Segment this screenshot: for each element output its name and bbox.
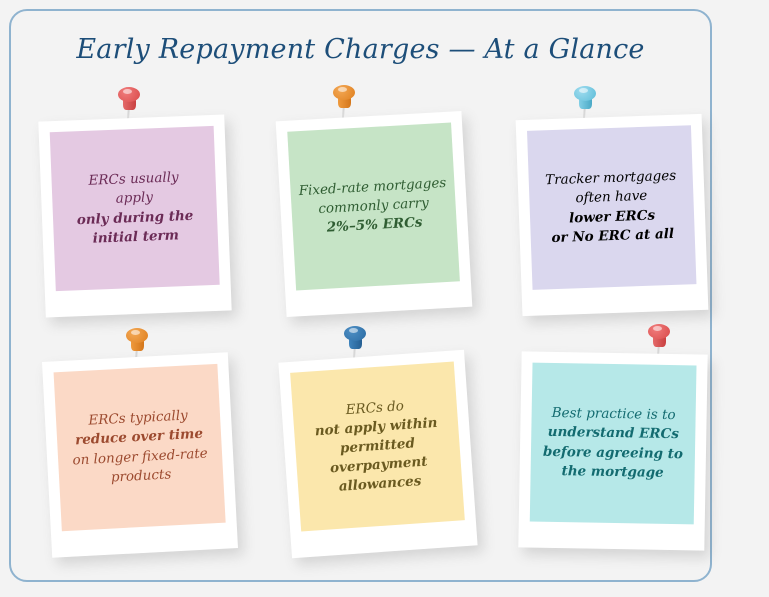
note-card-surface: ERCs typicallyreduce over timeon longer … bbox=[54, 364, 226, 531]
pin-head bbox=[126, 328, 148, 343]
note-card-line: products bbox=[110, 465, 171, 487]
card-reduce-over-time: ERCs typicallyreduce over timeon longer … bbox=[42, 352, 238, 557]
pin-head bbox=[648, 324, 670, 339]
note-card-surface: Tracker mortgagesoften havelower ERCsor … bbox=[527, 125, 696, 290]
pin-highlight bbox=[123, 89, 132, 94]
pin-highlight bbox=[653, 326, 662, 331]
pin-head bbox=[118, 87, 140, 102]
pin-head bbox=[333, 85, 355, 100]
card-fixed-rate-2-5: Fixed-rate mortgagescommonly carry2%–5% … bbox=[276, 111, 473, 317]
pin-shaft bbox=[338, 94, 351, 108]
note-card-line: or No ERC at all bbox=[551, 225, 674, 248]
card-best-practice: Best practice is tounderstand ERCsbefore… bbox=[518, 351, 707, 550]
note-card-line: apply bbox=[115, 189, 153, 210]
note-card-surface: Best practice is tounderstand ERCsbefore… bbox=[530, 363, 697, 525]
pin-shaft bbox=[131, 337, 144, 351]
card-overpayment-allowances: ERCs donot apply withinpermittedoverpaym… bbox=[278, 350, 477, 558]
page-title: Early Repayment Charges — At a Glance bbox=[0, 34, 721, 65]
note-card-surface: ERCs donot apply withinpermittedoverpaym… bbox=[290, 361, 465, 531]
pin-shaft bbox=[123, 96, 136, 110]
note-card-line: 2%–5% ERCs bbox=[326, 213, 423, 237]
note-card-line: initial term bbox=[92, 226, 179, 248]
pin-shaft bbox=[349, 335, 362, 349]
note-card-line: understand ERCs bbox=[548, 423, 679, 444]
infographic-poster: Early Repayment Charges — At a Glance ER… bbox=[0, 0, 769, 597]
pin-head bbox=[344, 326, 366, 341]
note-card-line: ERCs usually bbox=[88, 168, 179, 191]
note-card-surface: ERCs usuallyapplyonly during theinitial … bbox=[50, 126, 220, 291]
note-card-surface: Fixed-rate mortgagescommonly carry2%–5% … bbox=[287, 123, 460, 291]
card-erc-initial-term: ERCs usuallyapplyonly during theinitial … bbox=[38, 115, 231, 318]
pin-shaft bbox=[653, 333, 666, 347]
pin-shaft bbox=[579, 95, 592, 109]
pin-highlight bbox=[579, 88, 588, 93]
pin-highlight bbox=[131, 330, 140, 335]
note-card-line: the mortgage bbox=[561, 462, 664, 483]
pin-highlight bbox=[349, 328, 358, 333]
card-tracker-lower-erc: Tracker mortgagesoften havelower ERCsor … bbox=[516, 114, 709, 316]
note-card-line: Tracker mortgages bbox=[545, 167, 677, 191]
pin-highlight bbox=[338, 87, 347, 92]
pin-head bbox=[574, 86, 596, 101]
note-card-line: often have bbox=[575, 187, 648, 209]
note-card-line: before agreeing to bbox=[543, 442, 683, 464]
note-card-line: Best practice is to bbox=[552, 404, 676, 425]
